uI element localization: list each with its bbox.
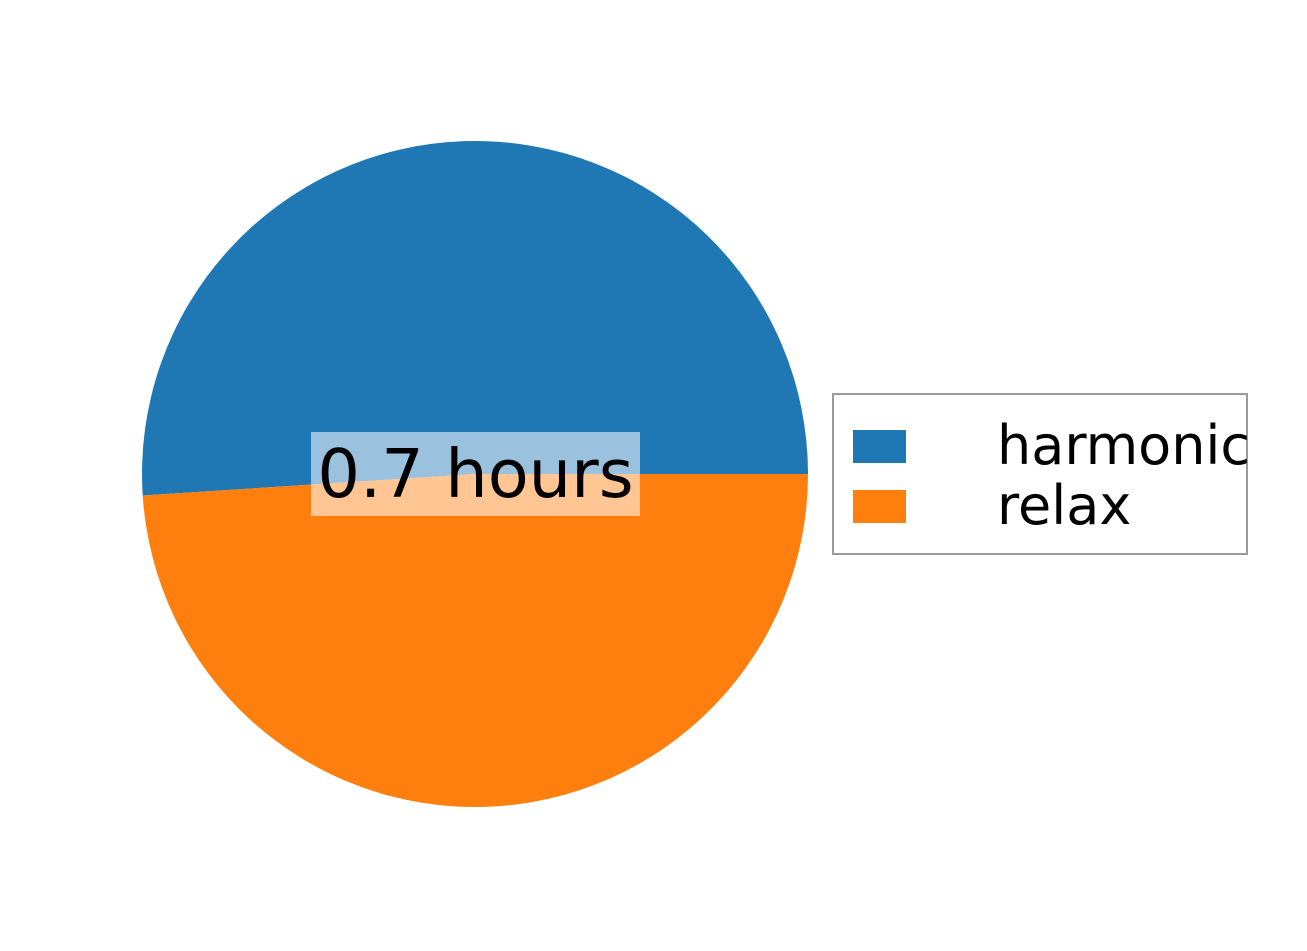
- legend-swatch-harmonic: [853, 430, 906, 463]
- legend-label-relax: relax: [997, 479, 1131, 533]
- chart-legend: harmonic relax: [832, 393, 1248, 555]
- legend-item-relax[interactable]: relax: [853, 476, 1246, 536]
- legend-label-harmonic: harmonic: [997, 419, 1250, 473]
- legend-item-harmonic[interactable]: harmonic: [853, 416, 1246, 476]
- pie-chart-figure: 0.7 hours harmonic relax: [0, 0, 1307, 951]
- pie-slice-relax[interactable]: [143, 474, 808, 807]
- pie-slice-value-label: 0.7 hours: [311, 432, 640, 516]
- legend-swatch-relax: [853, 490, 906, 523]
- pie-slice-value-text: 0.7 hours: [317, 441, 633, 508]
